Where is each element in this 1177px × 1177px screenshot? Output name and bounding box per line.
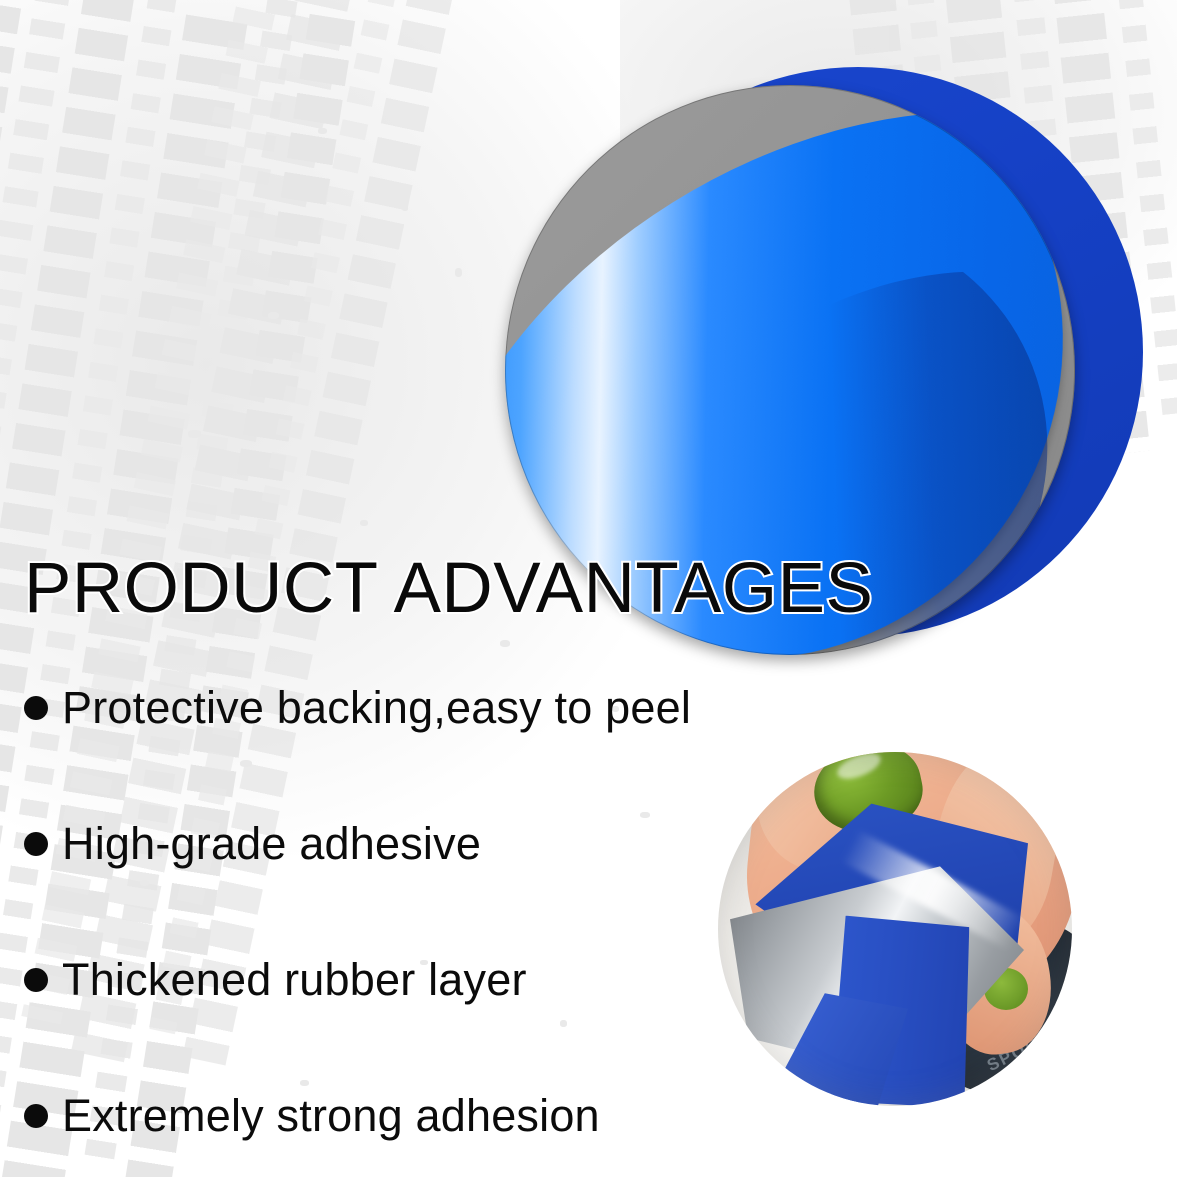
- list-item: High-grade adhesive: [24, 808, 744, 880]
- advantages-list: Protective backing,easy to peel High-gra…: [24, 672, 744, 1177]
- product-advantages-banner: PRODUCT ADVANTAGES Protective backing,ea…: [0, 0, 1177, 1177]
- list-item-label: Protective backing,easy to peel: [62, 682, 691, 734]
- bullet-dot-icon: [24, 968, 48, 992]
- list-item-label: Thickened rubber layer: [62, 954, 527, 1006]
- bullet-dot-icon: [24, 696, 48, 720]
- bullet-dot-icon: [24, 832, 48, 856]
- list-item: Protective backing,easy to peel: [24, 672, 744, 744]
- page-title: PRODUCT ADVANTAGES: [24, 548, 873, 629]
- list-item-label: High-grade adhesive: [62, 818, 481, 870]
- hand-peeling-film-photo: SPORT: [718, 752, 1072, 1106]
- list-item: Thickened rubber layer: [24, 944, 744, 1016]
- bullet-dot-icon: [24, 1104, 48, 1128]
- list-item-label: Extremely strong adhesion: [62, 1090, 600, 1142]
- photo-vignette: [718, 752, 1072, 1106]
- list-item: Extremely strong adhesion: [24, 1080, 744, 1152]
